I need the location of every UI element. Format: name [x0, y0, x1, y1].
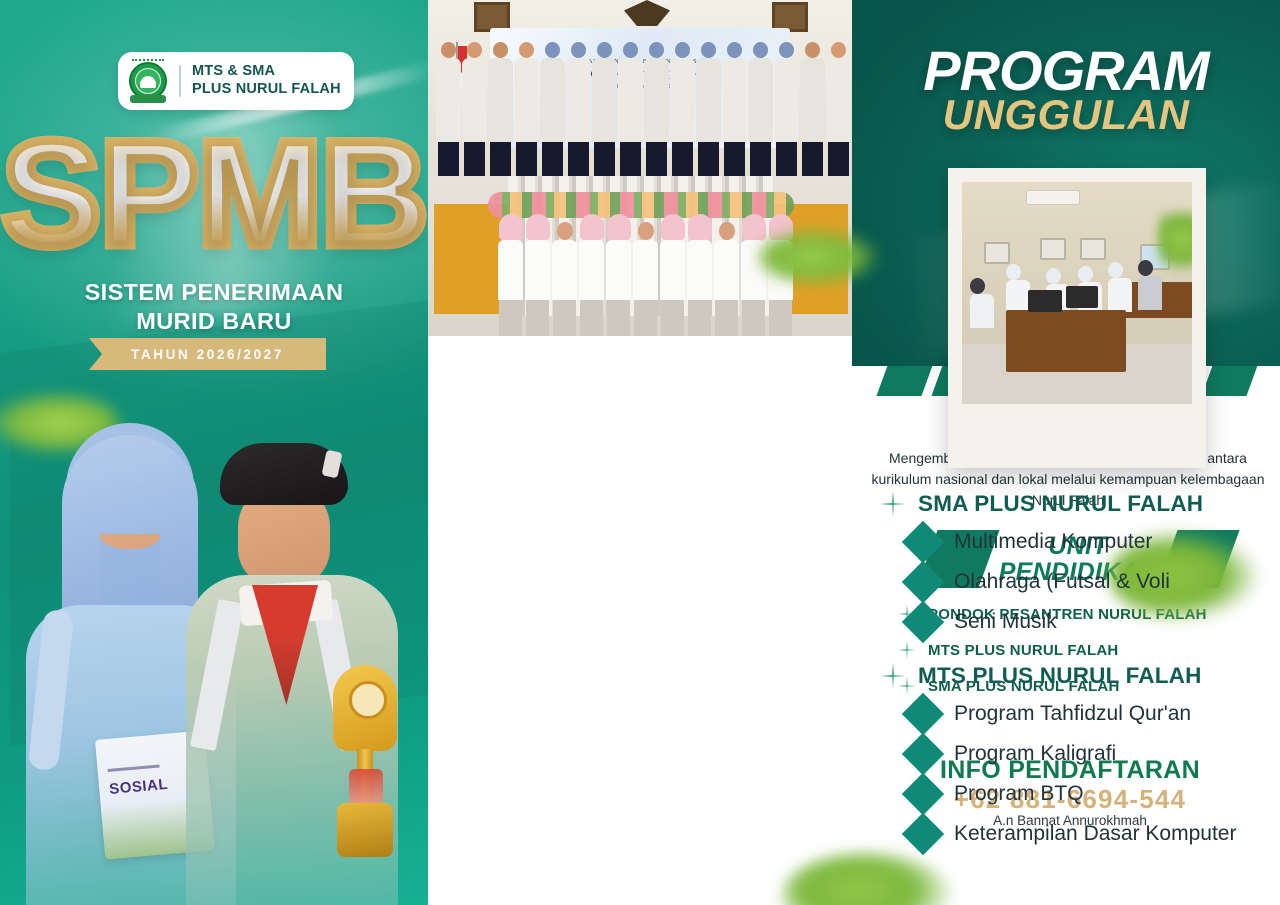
air-conditioner-icon — [1026, 190, 1080, 205]
sparkle-icon — [880, 491, 906, 517]
diamond-bullet-icon — [902, 733, 944, 775]
middle-panel: TASYAKURAN & PELEPASAN KELAS XII SMA Plu… — [428, 0, 856, 905]
diamond-bullet-icon — [902, 813, 944, 855]
diamond-bullet-icon — [902, 773, 944, 815]
program-item-label: Keterampilan Dasar Komputer — [954, 822, 1236, 846]
list-item[interactable]: Program Kaligrafi — [880, 734, 1280, 774]
program-item-label: Program Kaligrafi — [954, 742, 1116, 766]
diamond-bullet-icon — [902, 561, 944, 603]
list-item[interactable]: Olahraga (Futsal & Voli — [880, 562, 1280, 602]
program-item-label: Seni Musik — [954, 610, 1057, 634]
program-item-label: Program BTQ — [954, 782, 1084, 806]
diamond-bullet-icon — [902, 601, 944, 643]
program-item-label: Olahraga (Futsal & Voli — [954, 570, 1170, 594]
subtitle-line1: SISTEM PENERIMAAN — [0, 278, 428, 307]
program-item-label: Multimedia Komputer — [954, 530, 1152, 554]
leaf-decoration-polaroid — [1158, 212, 1192, 272]
computer-lab-photo — [948, 168, 1206, 468]
students-photo: SOSIAL — [0, 385, 428, 905]
trophy-icon — [323, 665, 407, 895]
student-boy — [168, 435, 403, 905]
list-item[interactable]: Program BTQ — [880, 774, 1280, 814]
subtitle-line2: MURID BARU — [0, 307, 428, 336]
program-item-label: Program Tahfidzul Qur'an — [954, 702, 1191, 726]
program-group-heading: MTS PLUS NURUL FALAH — [880, 658, 1280, 694]
list-item[interactable]: Keterampilan Dasar Komputer — [880, 814, 1280, 854]
list-item[interactable]: Multimedia Komputer — [880, 522, 1280, 562]
graduation-group-photo: TASYAKURAN & PELEPASAN KELAS XII SMA Plu… — [428, 0, 854, 176]
program-group-heading: SMA PLUS NURUL FALAH — [880, 486, 1280, 522]
headline-spmb: SPMB — [0, 120, 428, 267]
program-group-name: MTS PLUS NURUL FALAH — [918, 663, 1202, 689]
sparkle-icon — [880, 663, 906, 689]
teachers-group-photo — [428, 176, 854, 336]
diamond-bullet-icon — [902, 521, 944, 563]
program-group-name: SMA PLUS NURUL FALAH — [918, 491, 1203, 517]
school-logo-badge: MTS & SMA PLUS NURUL FALAH — [118, 52, 354, 110]
list-item[interactable]: Program Tahfidzul Qur'an — [880, 694, 1280, 734]
school-crest-icon — [126, 59, 170, 103]
school-name: MTS & SMA PLUS NURUL FALAH — [192, 63, 341, 98]
left-panel: MTS & SMA PLUS NURUL FALAH SPMB SISTEM P… — [0, 0, 428, 905]
year-ribbon: TAHUN 2026/2027 — [89, 338, 326, 370]
program-title-line2: UNGGULAN — [852, 91, 1280, 139]
school-name-line1: MTS & SMA — [192, 63, 341, 81]
diamond-bullet-icon — [902, 693, 944, 735]
school-name-line2: PLUS NURUL FALAH — [192, 81, 341, 99]
logo-divider — [179, 65, 181, 97]
poster-canvas: MTS & SMA PLUS NURUL FALAH SPMB SISTEM P… — [0, 0, 1280, 905]
headline-subtitle: SISTEM PENERIMAAN MURID BARU — [0, 278, 428, 335]
list-item[interactable]: Seni Musik — [880, 602, 1280, 642]
program-list: SMA PLUS NURUL FALAH Multimedia Komputer… — [880, 486, 1280, 854]
polaroid-caption-area — [962, 404, 1192, 456]
